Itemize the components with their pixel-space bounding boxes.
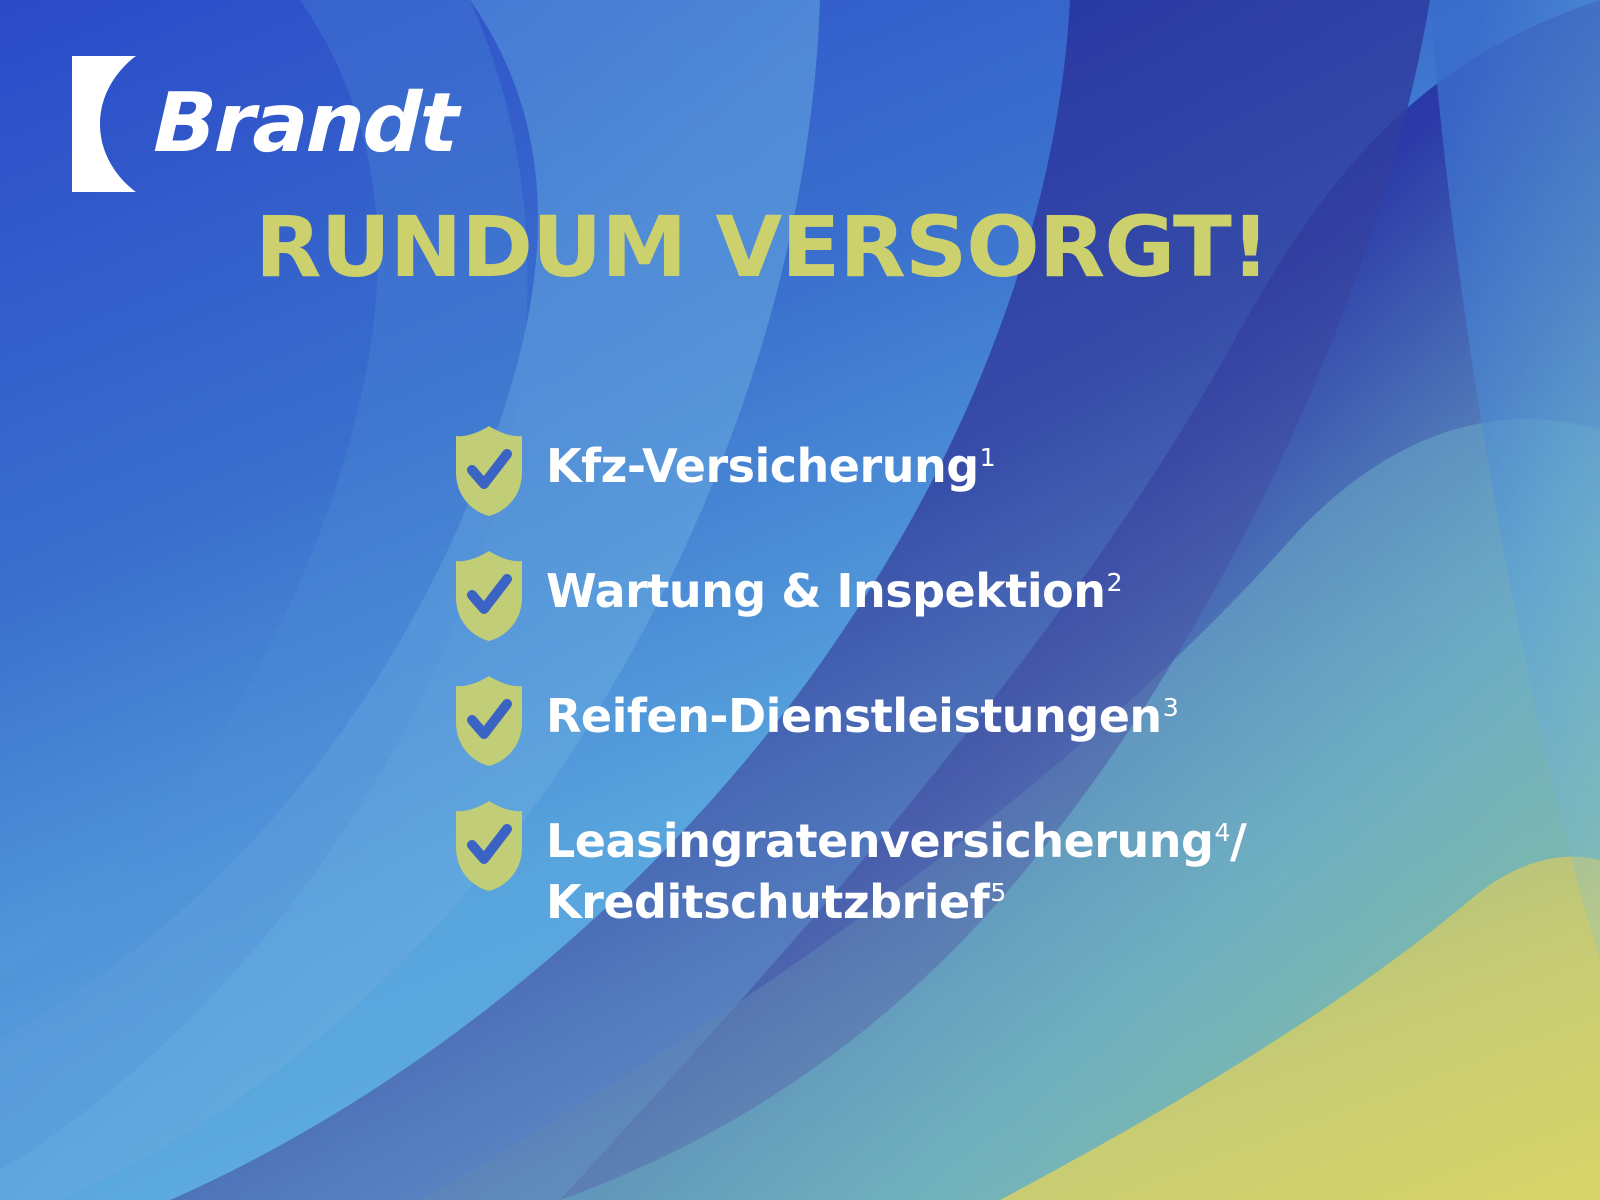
feature-text-line2: Kreditschutzbrief <box>546 875 989 929</box>
list-item-label: Reifen-Dienstleistungen3 <box>532 668 1178 747</box>
list-item-label: Kfz-Versicherung1 <box>532 418 995 497</box>
footnote-marker: 4 <box>1214 818 1230 847</box>
page-title: RUNDUM VERSORGT! <box>255 205 1269 289</box>
footnote-marker: 2 <box>1106 568 1122 597</box>
brand-name: Brandt <box>153 83 458 165</box>
list-item-label: Leasingratenversicherung4/ Kreditschutzb… <box>532 793 1246 932</box>
footnote-marker-2: 5 <box>990 878 1006 907</box>
footnote-marker: 1 <box>980 443 996 472</box>
shield-check-icon <box>452 543 532 643</box>
list-item: Wartung & Inspektion2 <box>452 543 1452 668</box>
shield-check-glyph <box>452 799 526 893</box>
bracket-logo-icon <box>72 56 148 192</box>
shield-check-glyph <box>452 424 526 518</box>
feature-separator: / <box>1230 814 1246 868</box>
feature-text: Wartung & Inspektion <box>546 564 1105 618</box>
feature-list: Kfz-Versicherung1 Wartung & Inspektion2 <box>452 418 1452 932</box>
footnote-marker: 3 <box>1163 693 1179 722</box>
feature-text: Kfz-Versicherung <box>546 439 979 493</box>
shield-check-icon <box>452 668 532 768</box>
shield-check-glyph <box>452 674 526 768</box>
shield-check-icon <box>452 793 532 893</box>
list-item: Leasingratenversicherung4/ Kreditschutzb… <box>452 793 1452 932</box>
list-item-label: Wartung & Inspektion2 <box>532 543 1122 622</box>
shield-check-glyph <box>452 549 526 643</box>
list-item: Kfz-Versicherung1 <box>452 418 1452 543</box>
poster-canvas: Brandt RUNDUM VERSORGT! Kfz-Versicherung… <box>0 0 1600 1200</box>
feature-text: Reifen-Dienstleistungen <box>546 689 1162 743</box>
feature-text: Leasingratenversicherung <box>546 814 1213 868</box>
list-item: Reifen-Dienstleistungen3 <box>452 668 1452 793</box>
shield-check-icon <box>452 418 532 518</box>
brand-logo[interactable]: Brandt <box>72 56 457 192</box>
